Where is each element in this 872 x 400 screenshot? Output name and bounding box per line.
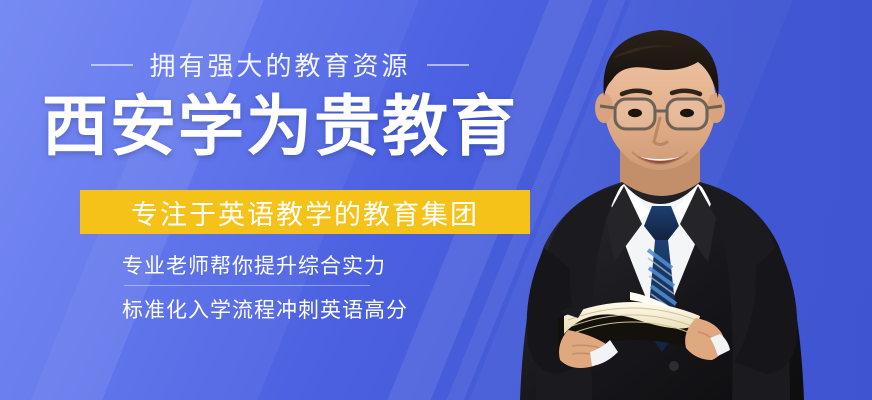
bullet-divider [124, 285, 370, 286]
dash-right-icon [427, 64, 469, 66]
dash-left-icon [91, 64, 133, 66]
bullet-line-1: 专业老师帮你提升综合实力 [122, 250, 522, 280]
promo-banner: 拥有强大的教育资源 西安学为贵教育 专注于英语教学的教育集团 专业老师帮你提升综… [0, 0, 872, 400]
page-title: 西安学为贵教育 [0, 88, 560, 164]
banner-text-content: 拥有强大的教育资源 西安学为贵教育 专注于英语教学的教育集团 专业老师帮你提升综… [0, 0, 560, 400]
highlight-band: 专注于英语教学的教育集团 [80, 190, 530, 234]
highlight-band-text: 专注于英语教学的教育集团 [131, 193, 479, 232]
tagline-text: 拥有强大的教育资源 [149, 46, 410, 83]
bullet-line-2: 标准化入学流程冲刺英语高分 [122, 294, 522, 324]
tagline-row: 拥有强大的教育资源 [0, 46, 560, 83]
